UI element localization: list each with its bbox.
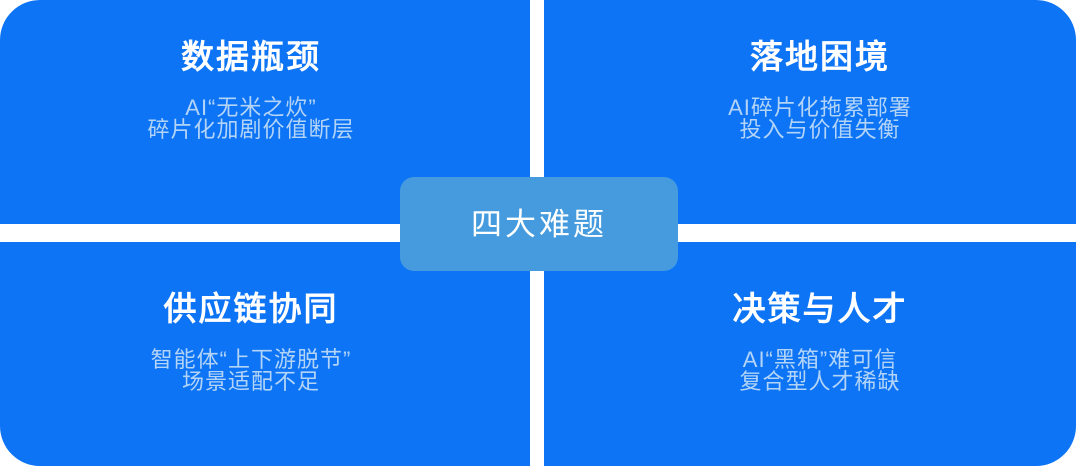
quadrant-subtitle-2: 场景适配不足: [182, 371, 320, 393]
quadrant-supply-chain-collaboration[interactable]: 供应链协同 智能体“上下游脱节” 场景适配不足: [0, 242, 530, 466]
center-badge[interactable]: 四大难题: [400, 177, 678, 271]
quadrant-subtitle-1: AI碎片化拖累部署: [728, 97, 912, 119]
quadrant-subtitle-2: 复合型人才稀缺: [739, 371, 900, 393]
quadrant-subtitle-2: 碎片化加剧价值断层: [147, 119, 354, 141]
four-challenges-infographic: 数据瓶颈 AI“无米之炊” 碎片化加剧价值断层 落地困境 AI碎片化拖累部署 投…: [0, 0, 1076, 466]
quadrant-title: 供应链协同: [164, 292, 339, 325]
center-badge-label: 四大难题: [471, 209, 607, 240]
quadrant-text-stack: 决策与人才 AI“黑箱”难可信 复合型人才稀缺: [733, 242, 908, 393]
quadrant-decision-and-talent[interactable]: 决策与人才 AI“黑箱”难可信 复合型人才稀缺: [544, 242, 1076, 466]
quadrant-title: 决策与人才: [733, 292, 908, 325]
quadrant-title: 数据瓶颈: [181, 40, 321, 73]
quadrant-title: 落地困境: [750, 40, 890, 73]
quadrant-subtitle-1: AI“黑箱”难可信: [743, 349, 897, 371]
quadrant-text-stack: 供应链协同 智能体“上下游脱节” 场景适配不足: [151, 242, 352, 393]
quadrant-subtitle-1: AI“无米之炊”: [185, 97, 316, 119]
quadrant-text-stack: 数据瓶颈 AI“无米之炊” 碎片化加剧价值断层: [147, 0, 354, 141]
quadrant-subtitle-2: 投入与价值失衡: [739, 119, 900, 141]
quadrant-text-stack: 落地困境 AI碎片化拖累部署 投入与价值失衡: [728, 0, 912, 141]
quadrant-subtitle-1: 智能体“上下游脱节”: [151, 349, 352, 371]
